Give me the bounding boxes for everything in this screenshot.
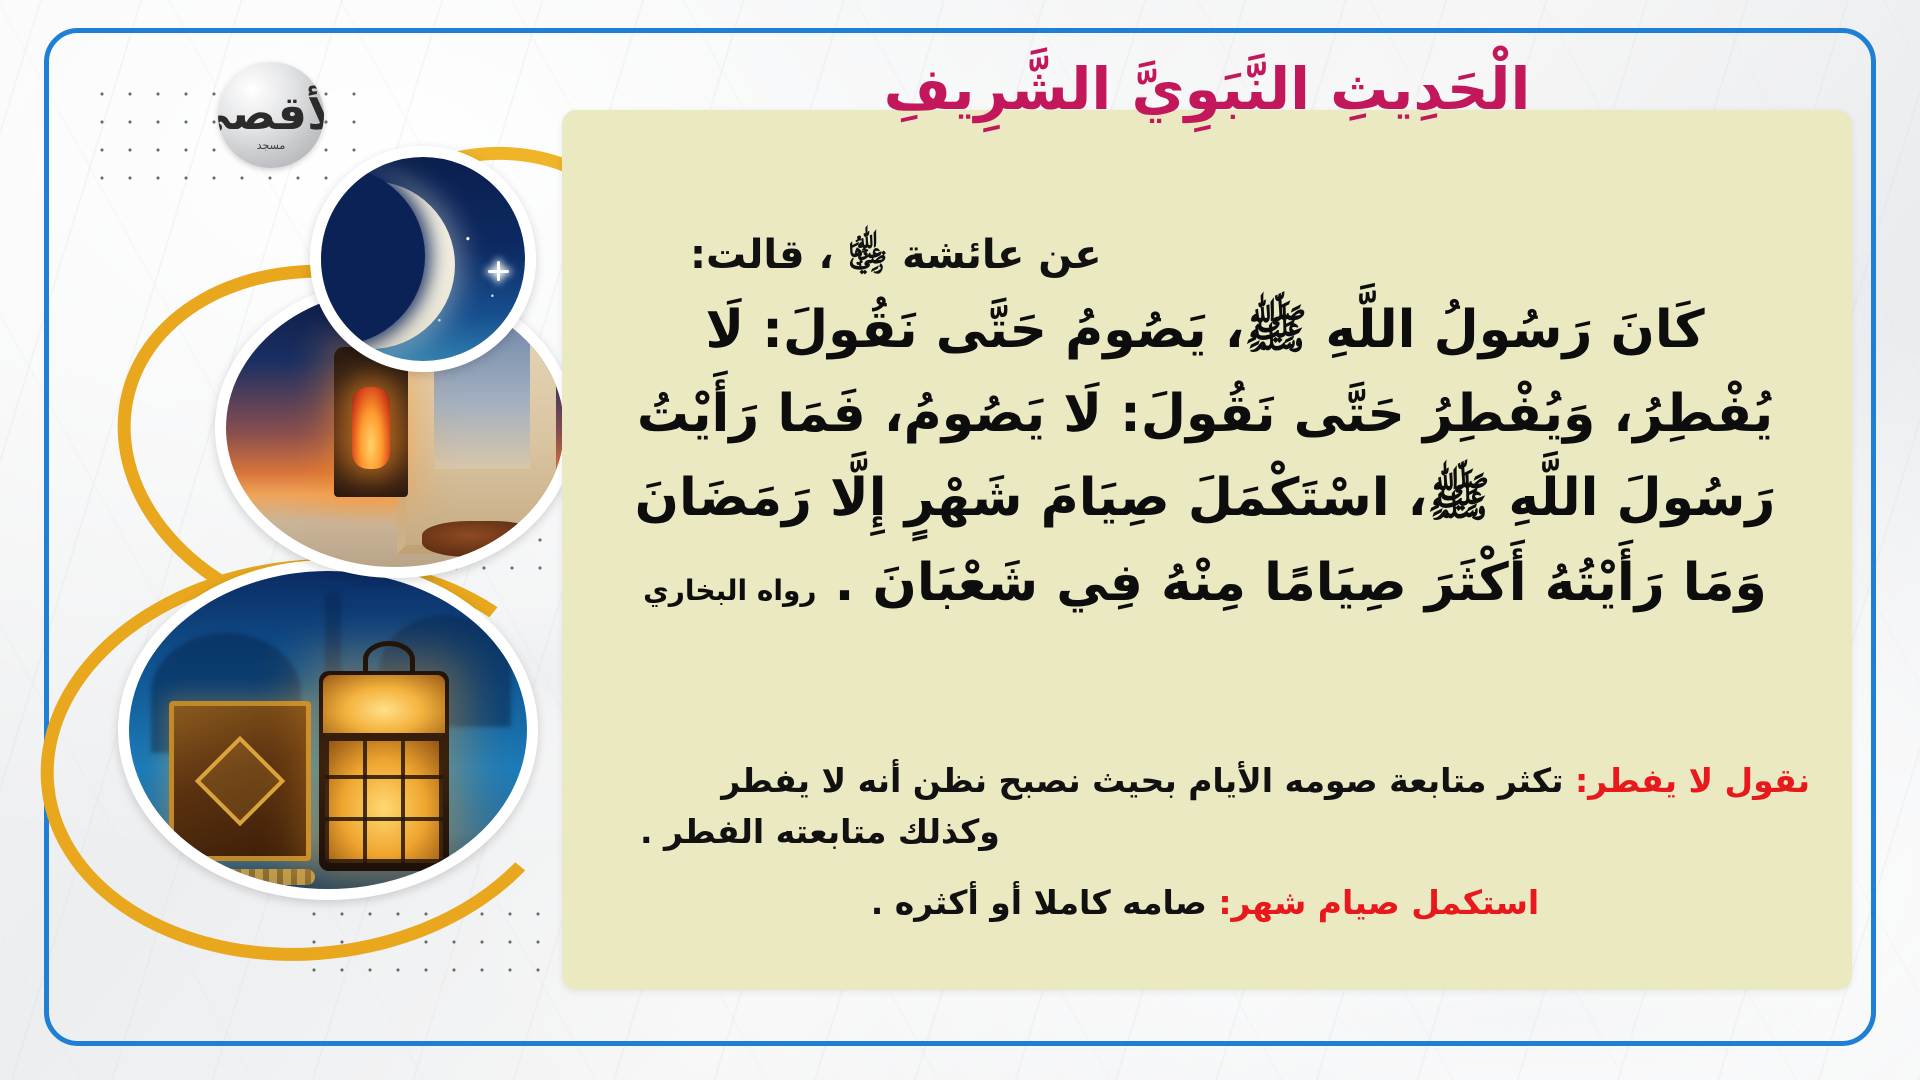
mosque-logo-badge: الأقصى مسجد [218, 62, 324, 168]
crescent-moon-photo [310, 146, 536, 372]
hadith-line: رَسُولَ اللَّهِ ﷺ، اسْتَكْمَلَ صِيَامَ ش… [600, 456, 1810, 540]
quran-lantern-photo [118, 560, 538, 900]
hadith-line: يُفْطِرُ، وَيُفْطِرُ حَتَّى نَقُولَ: لَا… [600, 372, 1810, 456]
bright-star-icon [497, 261, 500, 281]
lantern-body-glow [325, 741, 443, 863]
explanation-item: استكمل صيام شهر: صامه كاملا أو أكثره . [600, 877, 1810, 928]
hadith-source: رواه البخاري [643, 574, 816, 607]
hadith-text: كَانَ رَسُولُ اللَّهِ ﷺ، يَصُومُ حَتَّى … [600, 288, 1810, 625]
ramadan-lantern [334, 347, 408, 497]
explanation-item: نقول لا يفطر: تكثر متابعة صومه الأيام بح… [600, 755, 1810, 806]
hadith-narrator-line: عن عائشة ﵂ ، قالت: [600, 230, 1810, 280]
hadith-body: عن عائشة ﵂ ، قالت: كَانَ رَسُولُ اللَّهِ… [600, 230, 1810, 625]
explanation-continuation: وكذلك متابعته الفطر . [600, 806, 1810, 857]
explanation-text: تكثر متابعة صومه الأيام بحيث نصبح نظن أن… [721, 761, 1563, 800]
page-title: الْحَدِيثِ النَّبَوِيَّ الشَّرِيفِ [562, 58, 1852, 122]
lantern-flame-glow [352, 387, 390, 469]
prayer-beads [185, 869, 315, 885]
explanation-text: صامه كاملا أو أكثره . [871, 883, 1207, 922]
quran-book [169, 701, 311, 861]
logo-subtext: مسجد [257, 139, 286, 152]
explanation-label: نقول لا يفطر: [1575, 761, 1810, 800]
hadith-line-with-source: وَمَا رَأَيْتُهُ أَكْثَرَ صِيَامًا مِنْه… [600, 541, 1810, 625]
dates-plate [422, 521, 540, 557]
explanations-block: نقول لا يفطر: تكثر متابعة صومه الأيام بح… [600, 755, 1810, 928]
logo-calligraphy: الأقصى [218, 90, 324, 136]
hadith-line: كَانَ رَسُولُ اللَّهِ ﷺ، يَصُومُ حَتَّى … [600, 288, 1810, 372]
ramadan-lantern [319, 671, 449, 871]
hadith-line: وَمَا رَأَيْتُهُ أَكْثَرَ صِيَامًا مِنْه… [835, 553, 1767, 613]
lantern-top-glow [323, 675, 445, 733]
explanation-label: استكمل صيام شهر: [1218, 883, 1539, 922]
